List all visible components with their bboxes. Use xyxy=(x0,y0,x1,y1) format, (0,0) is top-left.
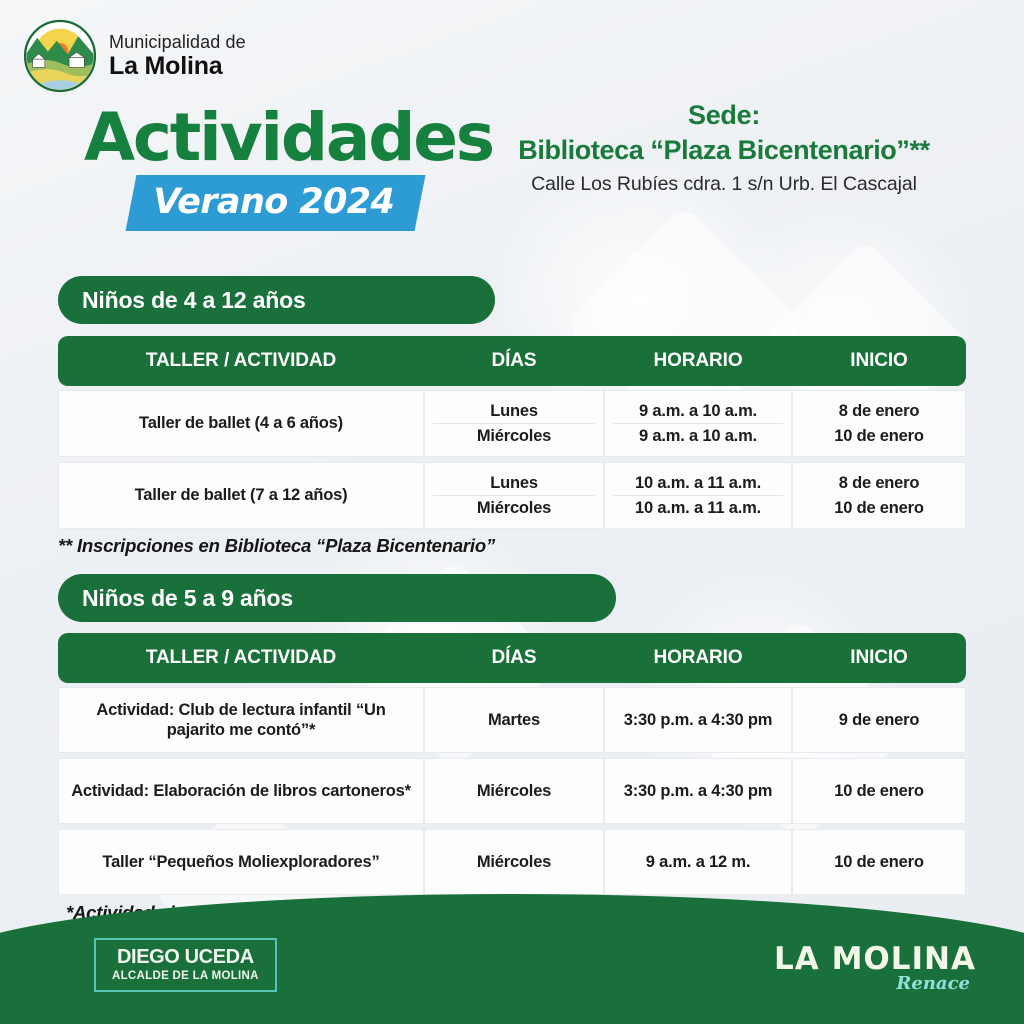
cell-activity: Taller de ballet (4 a 6 años) xyxy=(58,390,424,457)
table-row: Actividad: Elaboración de libros cartone… xyxy=(58,758,966,824)
table-1-col-days: DÍAS xyxy=(424,350,604,372)
season-banner: Verano 2024 xyxy=(126,175,426,231)
mayor-role: ALCALDE DE LA MOLINA xyxy=(112,970,259,982)
cell-days: Martes xyxy=(424,687,604,753)
municipality-brand: Municipalidad de La Molina xyxy=(22,18,246,94)
section-pill-1: Niños de 4 a 12 años xyxy=(58,276,495,324)
cell-schedule: 3:30 p.m. a 4:30 pm xyxy=(604,687,792,753)
cell-start: 8 de enero 10 de enero xyxy=(792,390,966,457)
cell-days-line: Miércoles xyxy=(433,423,595,448)
cell-days-line: Miércoles xyxy=(433,495,595,520)
cell-days: Lunes Miércoles xyxy=(424,390,604,457)
la-molina-renace-logo: LA MOLINA Renace xyxy=(774,944,976,994)
title-block: Actividades Verano 2024 xyxy=(84,108,493,231)
section-pill-1-label: Niños de 4 a 12 años xyxy=(82,287,306,314)
cell-schedule: 3:30 p.m. a 4:30 pm xyxy=(604,758,792,824)
table-2-col-days: DÍAS xyxy=(424,647,604,669)
cell-days-line: Lunes xyxy=(433,399,595,423)
venue-address: Calle Los Rubíes cdra. 1 s/n Urb. El Cas… xyxy=(464,173,984,196)
table-2-body: Actividad: Club de lectura infantil “Un … xyxy=(58,687,966,895)
table-1-col-start: INICIO xyxy=(792,350,966,372)
table-row: Actividad: Club de lectura infantil “Un … xyxy=(58,687,966,753)
cell-activity: Actividad: Elaboración de libros cartone… xyxy=(58,758,424,824)
section-pill-2: Niños de 5 a 9 años xyxy=(58,574,616,622)
table-1-col-schedule: HORARIO xyxy=(604,350,792,372)
table-row: Taller de ballet (7 a 12 años) Lunes Mié… xyxy=(58,462,966,529)
brand-line-district: La Molina xyxy=(109,53,246,79)
cell-activity: Taller de ballet (7 a 12 años) xyxy=(58,462,424,529)
table-1-header-row: TALLER / ACTIVIDAD DÍAS HORARIO INICIO xyxy=(58,336,966,386)
table-2-col-activity: TALLER / ACTIVIDAD xyxy=(58,647,424,669)
activities-table-2: TALLER / ACTIVIDAD DÍAS HORARIO INICIO A… xyxy=(58,633,966,895)
table-1-col-activity: TALLER / ACTIVIDAD xyxy=(58,350,424,372)
venue-block: Sede: Biblioteca “Plaza Bicentenario”** … xyxy=(464,100,984,196)
table-2-col-start: INICIO xyxy=(792,647,966,669)
cell-start-line: 8 de enero xyxy=(801,399,957,423)
season-banner-label: Verano 2024 xyxy=(153,182,394,222)
mayor-badge: DIEGO UCEDA ALCALDE DE LA MOLINA xyxy=(94,938,277,992)
venue-name: Biblioteca “Plaza Bicentenario”** xyxy=(464,135,984,166)
cell-start-line: 10 de enero xyxy=(801,424,957,448)
cell-start: 10 de enero xyxy=(792,829,966,895)
la-molina-crest-icon xyxy=(22,18,98,94)
mayor-name: DIEGO UCEDA xyxy=(112,947,259,968)
cell-schedule-line: 9 a.m. a 10 a.m. xyxy=(613,399,783,423)
table-row: Taller de ballet (4 a 6 años) Lunes Miér… xyxy=(58,390,966,457)
cell-days-line: Lunes xyxy=(433,471,595,495)
cell-start-line: 8 de enero xyxy=(801,471,957,495)
cell-start-line: 10 de enero xyxy=(801,496,957,520)
cell-schedule-line: 10 a.m. a 11 a.m. xyxy=(613,471,783,495)
cell-schedule-line: 10 a.m. a 11 a.m. xyxy=(613,495,783,520)
cell-start: 9 de enero xyxy=(792,687,966,753)
section-pill-2-label: Niños de 5 a 9 años xyxy=(82,585,293,612)
cell-start: 10 de enero xyxy=(792,758,966,824)
table-2-col-schedule: HORARIO xyxy=(604,647,792,669)
cell-schedule: 9 a.m. a 12 m. xyxy=(604,829,792,895)
cell-activity: Taller “Pequeños Moliexploradores” xyxy=(58,829,424,895)
cell-schedule: 10 a.m. a 11 a.m. 10 a.m. a 11 a.m. xyxy=(604,462,792,529)
cell-days: Lunes Miércoles xyxy=(424,462,604,529)
cell-days: Miércoles xyxy=(424,829,604,895)
cell-days: Miércoles xyxy=(424,758,604,824)
table-row: Taller “Pequeños Moliexploradores” Miérc… xyxy=(58,829,966,895)
page-title: Actividades xyxy=(84,108,493,169)
poster-canvas: Municipalidad de La Molina Actividades V… xyxy=(0,0,1024,1024)
brand-line-municipality: Municipalidad de xyxy=(109,33,246,52)
cell-schedule-line: 9 a.m. a 10 a.m. xyxy=(613,423,783,448)
cell-activity: Actividad: Club de lectura infantil “Un … xyxy=(58,687,424,753)
table-1-body: Taller de ballet (4 a 6 años) Lunes Miér… xyxy=(58,390,966,529)
cell-start: 8 de enero 10 de enero xyxy=(792,462,966,529)
table-2-header-row: TALLER / ACTIVIDAD DÍAS HORARIO INICIO xyxy=(58,633,966,683)
section-1-note: ** Inscripciones en Biblioteca “Plaza Bi… xyxy=(58,535,966,557)
cell-schedule: 9 a.m. a 10 a.m. 9 a.m. a 10 a.m. xyxy=(604,390,792,457)
venue-label: Sede: xyxy=(464,100,984,131)
renace-logo-main: LA MOLINA xyxy=(774,944,976,975)
activities-table-1: TALLER / ACTIVIDAD DÍAS HORARIO INICIO T… xyxy=(58,336,966,529)
